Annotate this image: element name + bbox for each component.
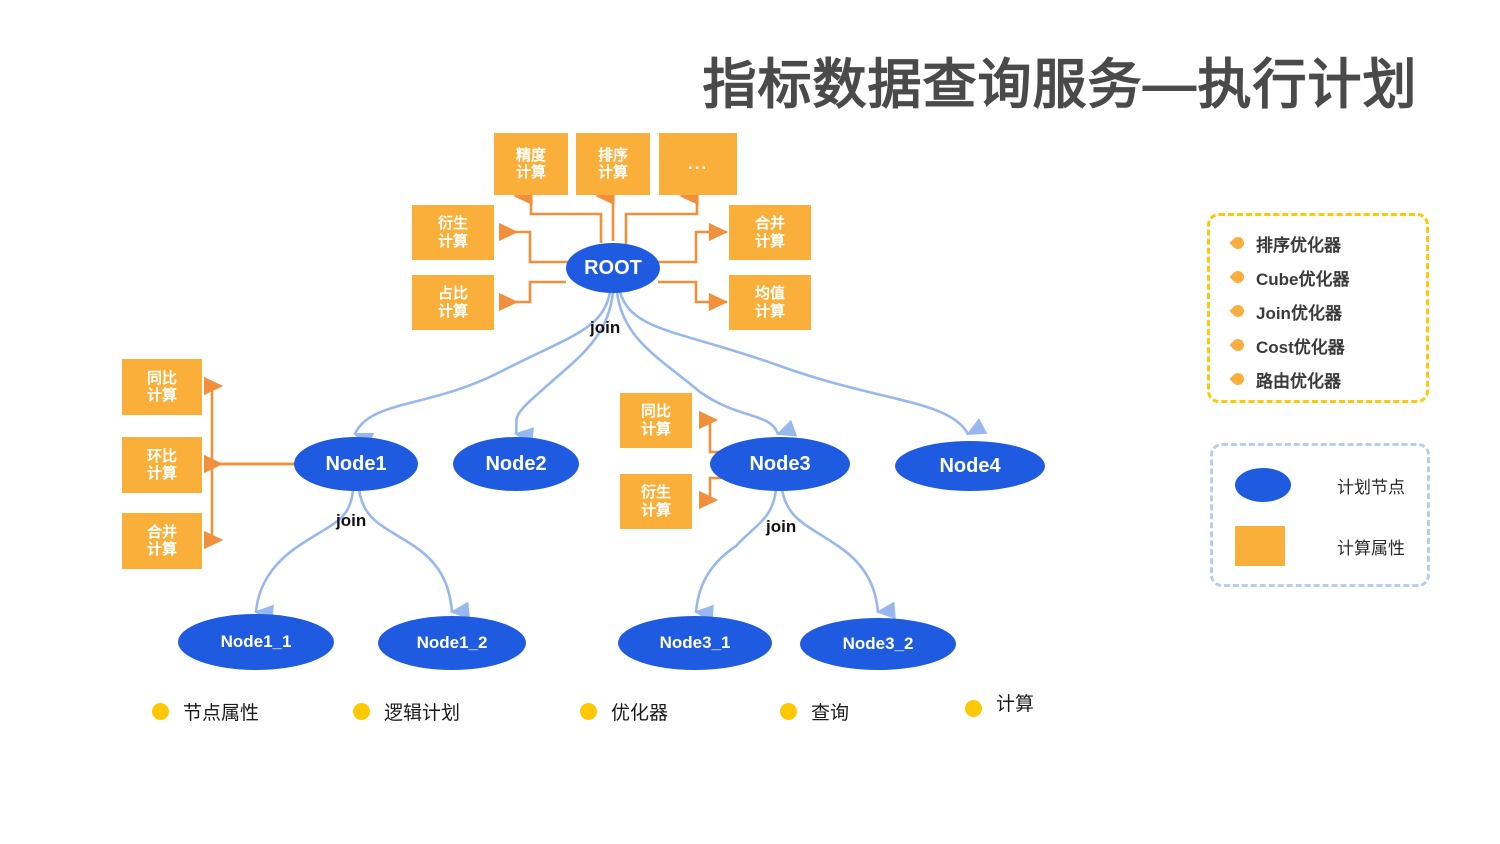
node1-to-children-connectors xyxy=(256,490,452,612)
slide-canvas: 指标数据查询服务—执行计划 xyxy=(0,0,1500,844)
attr-line1: ... xyxy=(688,154,708,174)
dot-bullet-icon xyxy=(780,703,797,720)
attr-line1: 精度 xyxy=(516,147,546,164)
optimizer-list: 排序优化器 Cube优化器 Join优化器 Cost优化器 路由优化器 xyxy=(1232,230,1350,392)
bottom-bullet-optimizer[interactable]: 优化器 xyxy=(580,698,668,725)
node-label: Node4 xyxy=(939,455,1000,478)
plan-node-root[interactable]: ROOT xyxy=(566,243,660,293)
legend-row-plan-node: 计划节点 xyxy=(1235,468,1405,502)
attr-line1: 环比 xyxy=(147,448,177,465)
attr-line1: 衍生 xyxy=(438,215,468,232)
bottom-bullet-query[interactable]: 查询 xyxy=(780,698,849,725)
plan-node-node1[interactable]: Node1 xyxy=(294,437,418,491)
attr-box-more[interactable]: ... xyxy=(659,133,737,195)
list-item[interactable]: 排序优化器 xyxy=(1232,230,1350,256)
legend-optimizers: 排序优化器 Cube优化器 Join优化器 Cost优化器 路由优化器 xyxy=(1207,213,1429,403)
leaf-bullet-icon xyxy=(1230,303,1247,320)
node-label: Node1_2 xyxy=(417,633,488,653)
attr-box-derived-root[interactable]: 衍生 计算 xyxy=(412,205,494,260)
join-label-node1: join xyxy=(336,511,366,531)
optimizer-label: Cube优化器 xyxy=(1256,265,1350,290)
optimizer-label: Join优化器 xyxy=(1256,299,1342,324)
leaf-bullet-icon xyxy=(1230,235,1247,252)
attr-box-precision[interactable]: 精度 计算 xyxy=(494,133,568,195)
attr-line2: 计算 xyxy=(755,303,785,320)
attr-line2: 计算 xyxy=(147,387,177,404)
list-item[interactable]: Join优化器 xyxy=(1232,298,1350,324)
plan-node-swatch-icon xyxy=(1235,468,1291,502)
bottom-label: 优化器 xyxy=(611,698,668,725)
dot-bullet-icon xyxy=(152,703,169,720)
leaf-bullet-icon xyxy=(1230,269,1247,286)
plan-node-node3[interactable]: Node3 xyxy=(710,437,850,491)
optimizer-label: 排序优化器 xyxy=(1256,231,1341,256)
attr-line2: 计算 xyxy=(438,233,468,250)
legend-shapes: 计划节点 计算属性 xyxy=(1210,443,1430,587)
attr-line1: 同比 xyxy=(147,370,177,387)
plan-node-node3-1[interactable]: Node3_1 xyxy=(618,616,772,670)
plan-node-node2[interactable]: Node2 xyxy=(453,437,579,491)
page-title: 指标数据查询服务—执行计划 xyxy=(665,40,1455,119)
bottom-bullet-logical-plan[interactable]: 逻辑计划 xyxy=(353,698,460,725)
legend-label: 计划节点 xyxy=(1337,473,1405,498)
node1-attr-connectors xyxy=(205,386,299,540)
list-item[interactable]: Cost优化器 xyxy=(1232,332,1350,358)
node-label: Node3_1 xyxy=(660,633,731,653)
attr-line2: 计算 xyxy=(641,421,671,438)
attr-line1: 衍生 xyxy=(641,484,671,501)
plan-node-node3-2[interactable]: Node3_2 xyxy=(800,618,956,670)
attr-line1: 排序 xyxy=(598,147,628,164)
node3-to-children-connectors xyxy=(696,490,878,612)
attr-box-mom-node1[interactable]: 环比 计算 xyxy=(122,437,202,493)
attr-line1: 均值 xyxy=(755,285,785,302)
dot-bullet-icon xyxy=(965,700,982,717)
plan-node-node1-1[interactable]: Node1_1 xyxy=(178,614,334,670)
node-label: Node1 xyxy=(325,453,386,476)
attr-line1: 合并 xyxy=(147,524,177,541)
attr-line1: 占比 xyxy=(438,285,468,302)
attr-line2: 计算 xyxy=(147,465,177,482)
node-label: Node3 xyxy=(749,453,810,476)
list-item[interactable]: Cube优化器 xyxy=(1232,264,1350,290)
legend-row-compute-attr: 计算属性 xyxy=(1235,526,1405,566)
legend-label: 计算属性 xyxy=(1337,534,1405,559)
attr-line2: 计算 xyxy=(598,164,628,181)
attr-line1: 合并 xyxy=(755,215,785,232)
node-label: Node3_2 xyxy=(843,634,914,654)
node-label: ROOT xyxy=(584,257,642,280)
attr-box-yoy-node3[interactable]: 同比 计算 xyxy=(620,393,692,448)
root-left-connectors xyxy=(500,232,568,302)
compute-attr-swatch-icon xyxy=(1235,526,1285,566)
attr-box-merge-root[interactable]: 合并 计算 xyxy=(729,205,811,260)
attr-line1: 同比 xyxy=(641,403,671,420)
attr-box-yoy-node1[interactable]: 同比 计算 xyxy=(122,359,202,415)
node-label: Node1_1 xyxy=(221,632,292,652)
dot-bullet-icon xyxy=(353,703,370,720)
bottom-bullet-node-attr[interactable]: 节点属性 xyxy=(152,698,259,725)
plan-node-node4[interactable]: Node4 xyxy=(895,441,1045,491)
node-label: Node2 xyxy=(485,453,546,476)
leaf-bullet-icon xyxy=(1230,337,1247,354)
bottom-label: 查询 xyxy=(811,698,849,725)
attr-line2: 计算 xyxy=(516,164,546,181)
attr-box-derived-node3[interactable]: 衍生 计算 xyxy=(620,474,692,529)
root-up-connectors xyxy=(531,196,697,244)
plan-node-node1-2[interactable]: Node1_2 xyxy=(378,616,526,670)
optimizer-label: Cost优化器 xyxy=(1256,333,1345,358)
bottom-label: 计算 xyxy=(996,689,1034,716)
bottom-label: 逻辑计划 xyxy=(384,698,460,725)
attr-box-average[interactable]: 均值 计算 xyxy=(729,275,811,330)
join-label-root: join xyxy=(590,318,620,338)
attr-box-sort[interactable]: 排序 计算 xyxy=(576,133,650,195)
attr-box-ratio[interactable]: 占比 计算 xyxy=(412,275,494,330)
list-item[interactable]: 路由优化器 xyxy=(1232,366,1350,392)
attr-line2: 计算 xyxy=(438,303,468,320)
attr-line2: 计算 xyxy=(641,502,671,519)
join-label-node3: join xyxy=(766,517,796,537)
root-right-connectors xyxy=(658,232,727,302)
bottom-label: 节点属性 xyxy=(183,698,259,725)
dot-bullet-icon xyxy=(580,703,597,720)
attr-box-merge-node1[interactable]: 合并 计算 xyxy=(122,513,202,569)
leaf-bullet-icon xyxy=(1230,371,1247,388)
bottom-bullet-compute[interactable]: 计算 xyxy=(965,688,1034,717)
attr-line2: 计算 xyxy=(755,233,785,250)
optimizer-label: 路由优化器 xyxy=(1256,367,1341,392)
attr-line2: 计算 xyxy=(147,541,177,558)
